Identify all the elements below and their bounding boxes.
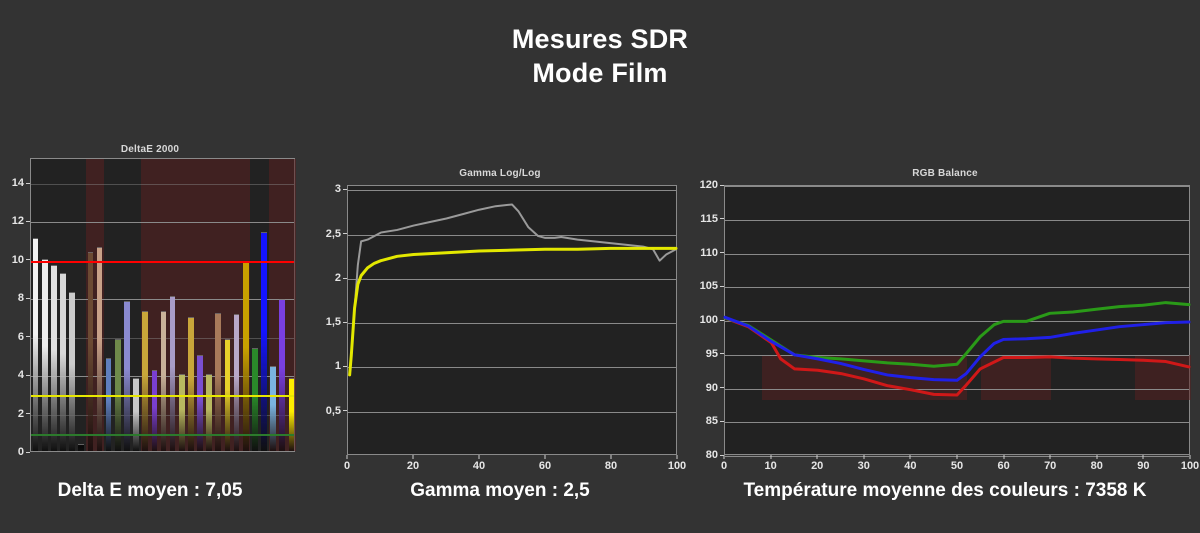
rgb-y-axis: 80859095100105110115120 (690, 185, 724, 455)
rgb-y-tick-label: 85 (706, 415, 724, 427)
rgb-x-tickmark (1003, 455, 1004, 459)
gamma-x-tick-label: 60 (539, 460, 551, 472)
rgb-x-axis: 0102030405060708090100 (724, 455, 1190, 477)
rgb-series-svg (725, 186, 1189, 454)
rgb-x-tick-label: 100 (1181, 460, 1199, 472)
gamma-caption: Gamma moyen : 2,5 (320, 480, 680, 502)
rgb-x-tick-label: 60 (997, 460, 1009, 472)
gamma-y-tick-label: 1,5 (326, 316, 347, 328)
rgb-x-tickmark (1143, 455, 1144, 459)
rgb-x-tick-label: 80 (1091, 460, 1103, 472)
rgb-x-tick-label: 20 (811, 460, 823, 472)
rgb-x-tick-label: 30 (858, 460, 870, 472)
rgb-y-tick-label: 90 (706, 382, 724, 394)
gamma-series-reference (350, 248, 676, 375)
deltae-y-tick-label: 0 (18, 446, 30, 458)
gamma-chart-title: Gamma Log/Log (320, 168, 680, 179)
deltae-y-axis: 02468101214 (0, 158, 30, 452)
rgb-y-tick-label: 110 (700, 247, 724, 259)
gamma-x-tickmark (677, 455, 678, 459)
rgb-x-tickmark (957, 455, 958, 459)
gamma-x-tick-label: 100 (668, 460, 686, 472)
temperature-caption: Température moyenne des couleurs : 7358 … (690, 480, 1200, 502)
gamma-x-tickmark (611, 455, 612, 459)
gamma-x-tick-label: 80 (605, 460, 617, 472)
gamma-y-tick-label: 2,5 (326, 228, 347, 240)
title-line-1: Mesures SDR (0, 22, 1200, 56)
gamma-panel: Gamma Log/Log 0,511,522,53 020406080100 (320, 165, 680, 470)
deltae-y-tick-label: 10 (12, 254, 30, 266)
deltae-y-tick-label: 8 (18, 292, 30, 304)
deltae-panel: DeltaE 2000 02468101214 (0, 140, 300, 470)
deltae-y-tick-label: 6 (18, 331, 30, 343)
rgb-x-tick-label: 90 (1137, 460, 1149, 472)
rgb-y-tick-label: 105 (700, 280, 724, 292)
gamma-x-tickmark (413, 455, 414, 459)
measurement-dashboard: Mesures SDR Mode Film DeltaE 2000 024681… (0, 0, 1200, 533)
rgb-y-tick-label: 100 (700, 314, 724, 326)
gamma-x-axis: 020406080100 (347, 455, 677, 477)
rgb-y-tick-label: 120 (700, 179, 724, 191)
deltae-y-tick-label: 12 (12, 215, 30, 227)
rgb-x-tickmark (863, 455, 864, 459)
deltae-caption: Delta E moyen : 7,05 (0, 480, 300, 502)
rgb-plot-area (724, 185, 1190, 455)
rgb-panel: RGB Balance 80859095100105110115120 0102… (690, 165, 1200, 470)
deltae-plot-area (30, 158, 295, 452)
gamma-x-tick-label: 40 (473, 460, 485, 472)
rgb-x-tickmark (1050, 455, 1051, 459)
gamma-plot-area (347, 185, 677, 455)
gamma-series-measured (350, 204, 676, 373)
rgb-x-tick-label: 70 (1044, 460, 1056, 472)
gamma-x-tick-label: 0 (344, 460, 350, 472)
deltae-chart-title: DeltaE 2000 (0, 144, 300, 155)
rgb-y-tick-label: 95 (706, 348, 724, 360)
rgb-x-tick-label: 10 (764, 460, 776, 472)
deltae-y-tick-label: 2 (18, 408, 30, 420)
deltae-green-threshold (31, 434, 294, 436)
rgb-x-tickmark (817, 455, 818, 459)
rgb-series-red (725, 318, 1189, 395)
gamma-y-tick-label: 2 (335, 272, 347, 284)
rgb-series-green (725, 303, 1189, 367)
rgb-x-tick-label: 40 (904, 460, 916, 472)
gamma-x-tickmark (479, 455, 480, 459)
title-line-2: Mode Film (0, 56, 1200, 90)
rgb-x-tickmark (1190, 455, 1191, 459)
rgb-x-tickmark (1096, 455, 1097, 459)
gamma-y-tick-label: 0,5 (326, 405, 347, 417)
deltae-y-tick-label: 4 (18, 369, 30, 381)
gamma-y-tick-label: 3 (335, 183, 347, 195)
rgb-x-tickmark (724, 455, 725, 459)
deltae-red-threshold (31, 261, 294, 263)
deltae-y-tick-label: 14 (12, 177, 30, 189)
rgb-chart-title: RGB Balance (690, 168, 1200, 179)
rgb-x-tick-label: 0 (721, 460, 727, 472)
deltae-yellow-threshold (31, 395, 294, 397)
rgb-series-blue (725, 317, 1189, 380)
deltae-threshold-lines (31, 159, 294, 451)
rgb-x-tickmark (910, 455, 911, 459)
rgb-y-tick-label: 115 (700, 213, 724, 225)
page-title: Mesures SDR Mode Film (0, 22, 1200, 90)
rgb-x-tick-label: 50 (951, 460, 963, 472)
gamma-x-tickmark (347, 455, 348, 459)
gamma-series-svg (348, 186, 676, 454)
rgb-x-tickmark (770, 455, 771, 459)
gamma-y-tick-label: 1 (335, 360, 347, 372)
gamma-x-tickmark (545, 455, 546, 459)
gamma-y-axis: 0,511,522,53 (320, 185, 347, 455)
gamma-x-tick-label: 20 (407, 460, 419, 472)
